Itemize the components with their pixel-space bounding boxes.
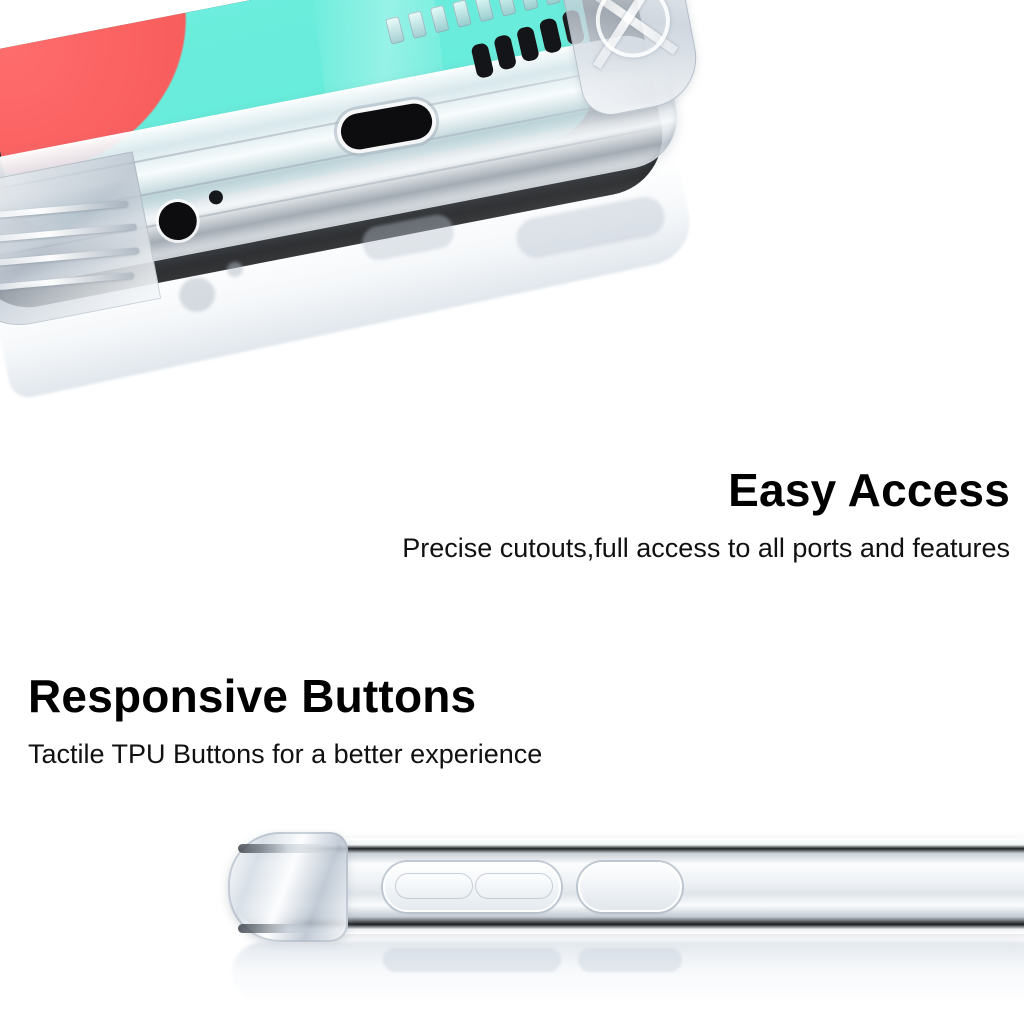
product-feature-canvas: Easy Access Precise cutouts,full access … — [0, 0, 1024, 1024]
speaker-slot — [493, 34, 517, 71]
speaker-slot — [538, 17, 562, 54]
product-photo-responsive-buttons — [0, 824, 1024, 1024]
feature-subline-responsive-buttons: Tactile TPU Buttons for a better experie… — [28, 740, 542, 770]
speaker-slot — [516, 26, 540, 63]
volume-rocker-button — [383, 862, 561, 912]
feature-subline-easy-access: Precise cutouts,full access to all ports… — [402, 534, 1010, 564]
volume-down-segment — [475, 873, 553, 899]
product-photo-easy-access — [0, 0, 800, 470]
reflection-volume-rocker — [383, 948, 561, 972]
reflection-power-button — [578, 948, 682, 972]
photo-top-scene — [0, 0, 800, 470]
power-button — [578, 862, 682, 912]
feature-block-responsive-buttons: Responsive Buttons Tactile TPU Buttons f… — [28, 672, 542, 769]
feature-headline-easy-access: Easy Access — [402, 466, 1010, 516]
volume-up-segment — [395, 873, 473, 899]
feature-headline-responsive-buttons: Responsive Buttons — [28, 672, 542, 722]
feature-block-easy-access: Easy Access Precise cutouts,full access … — [402, 466, 1010, 563]
